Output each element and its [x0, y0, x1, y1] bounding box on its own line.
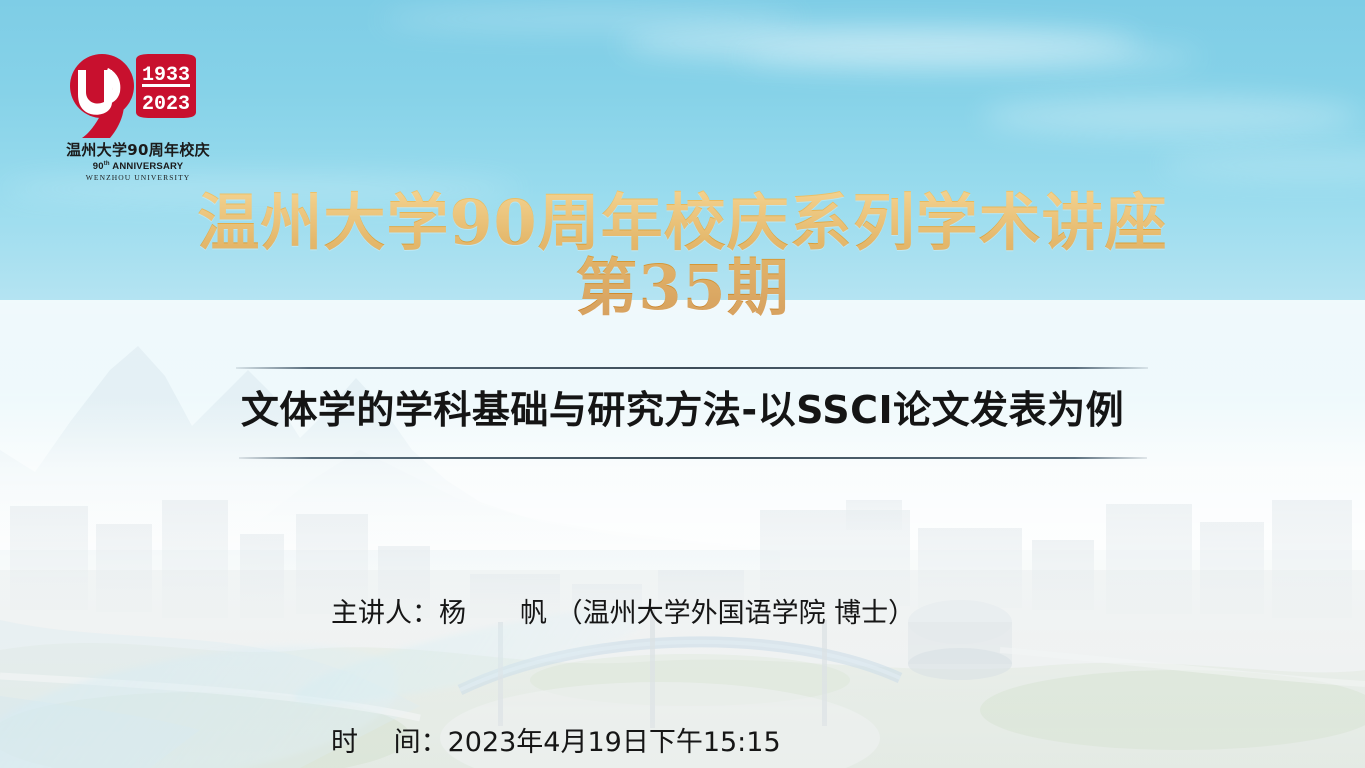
poster-subtitle: 文体学的学科基础与研究方法-以SSCI论文发表为例 — [0, 390, 1365, 432]
detail-time: 时 间：2023年4月19日下午15:15 — [331, 721, 915, 764]
lecture-poster: 1933 2023 温州大学90周年校庆 90th ANNIVERSARY WE… — [0, 0, 1365, 768]
divider-line-bottom — [239, 457, 1147, 459]
logo-en-superscript: th — [104, 161, 110, 167]
event-details: 主讲人：杨 帆 （温州大学外国语学院 博士） 时 间：2023年4月19日下午1… — [331, 506, 915, 768]
logo-en-prefix: 90 — [93, 161, 104, 172]
headline-line-1: 温州大学90周年校庆系列学术讲座 — [197, 186, 1167, 259]
university-anniversary-logo: 1933 2023 温州大学90周年校庆 90th ANNIVERSARY WE… — [52, 52, 224, 172]
logo-english-caption: 90th ANNIVERSARY — [52, 161, 224, 172]
logo-en-main: ANNIVERSARY — [112, 161, 183, 172]
cloud-shape — [380, 8, 800, 30]
logo-year-end-text: 2023 — [142, 93, 190, 116]
cloud-shape — [1160, 150, 1365, 180]
logo-year-start-text: 1933 — [142, 64, 190, 87]
detail-speaker: 主讲人：杨 帆 （温州大学外国语学院 博士） — [331, 592, 915, 635]
logo-university-name: WENZHOU UNIVERSITY — [52, 173, 224, 182]
headline-line-2: 第35期 — [0, 255, 1365, 320]
logo-chinese-caption: 温州大学90周年校庆 — [52, 139, 224, 160]
poster-headline: 温州大学90周年校庆系列学术讲座 第35期 — [0, 190, 1365, 320]
divider-line-top — [236, 367, 1148, 369]
anniversary-emblem-icon: 1933 2023 — [58, 52, 218, 138]
cloud-shape — [740, 44, 1200, 70]
cloud-shape — [980, 96, 1360, 136]
